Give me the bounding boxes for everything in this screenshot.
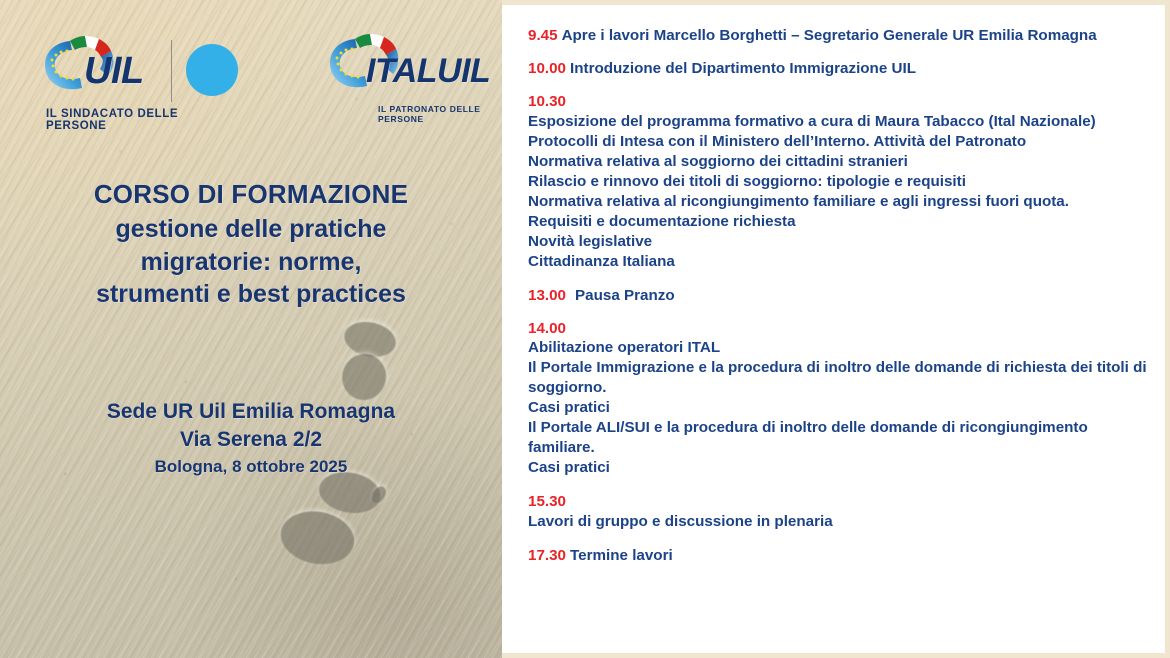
agenda-description-line: Il Portale Immigrazione e la procedura d…	[528, 358, 1155, 398]
agenda-description-line: Il Portale ALI/SUI e la procedura di ino…	[528, 418, 1155, 458]
agenda-time: 15.30	[528, 492, 1155, 512]
agenda-description-line: Requisiti e documentazione richiesta	[528, 212, 1155, 232]
agenda-time: 14.00	[528, 319, 1155, 339]
uil-wordmark: UIL	[84, 50, 144, 93]
agenda-description-line: Casi pratici	[528, 398, 1155, 418]
logo-divider	[171, 40, 172, 102]
title-line-4: strumenti e best practices	[0, 278, 502, 311]
uil-logo: UIL IL SINDACATO DELLE PERSONE	[40, 26, 240, 116]
agenda-description-line: Protocolli di Intesa con il Ministero de…	[528, 132, 1155, 152]
uil-blue-circle-icon	[186, 44, 238, 96]
italuil-tagline: IL PATRONATO DELLE PERSONE	[378, 104, 500, 124]
agenda-item-row: 10.00Introduzione del Dipartimento Immig…	[528, 59, 1155, 78]
agenda-description-line: Abilitazione operatori ITAL	[528, 338, 1155, 358]
agenda-item: 13.00Pausa Pranzo	[528, 286, 1155, 305]
agenda-description-line: Rilascio e rinnovo dei titoli di soggior…	[528, 172, 1155, 192]
agenda-description-lines: Esposizione del programma formativo a cu…	[528, 112, 1155, 272]
agenda-item: 14.00Abilitazione operatori ITALIl Porta…	[528, 319, 1155, 479]
agenda-description-line: Casi pratici	[528, 458, 1155, 478]
italuil-wordmark: ITALUIL	[366, 52, 490, 91]
agenda-description: Pausa Pranzo	[575, 287, 675, 304]
title-line-3: migratorie: norme,	[0, 246, 502, 279]
venue-block: Sede UR Uil Emilia Romagna Via Serena 2/…	[0, 398, 502, 479]
uil-tagline: IL SINDACATO DELLE PERSONE	[46, 108, 240, 132]
agenda-description-line: Novità legislative	[528, 232, 1155, 252]
agenda-description-lines: Abilitazione operatori ITALIl Portale Im…	[528, 338, 1155, 478]
agenda-item: 9.45Apre i lavori Marcello Borghetti – S…	[528, 26, 1155, 45]
agenda-item: 15.30Lavori di gruppo e discussione in p…	[528, 492, 1155, 532]
agenda-time: 10.30	[528, 92, 1155, 112]
agenda-description-line: Cittadinanza Italiana	[528, 252, 1155, 272]
agenda-description: Termine lavori	[570, 547, 673, 564]
venue-line-1: Sede UR Uil Emilia Romagna	[0, 398, 502, 426]
agenda-item-row: 13.00Pausa Pranzo	[528, 286, 1155, 305]
venue-line-2: Via Serena 2/2	[0, 426, 502, 454]
italuil-logo: ITALUIL IL PATRONATO DELLE PERSONE	[325, 26, 500, 116]
agenda-description-line: Lavori di gruppo e discussione in plenar…	[528, 512, 1155, 532]
venue-line-3: Bologna, 8 ottobre 2025	[0, 454, 502, 480]
agenda-time: 13.00	[528, 287, 566, 304]
agenda-item: 17.30Termine lavori	[528, 546, 1155, 565]
footprint-lower	[272, 462, 389, 597]
title-subtitle: gestione delle pratiche migratorie: norm…	[0, 211, 502, 311]
agenda-description-line: Normativa relativa al soggiorno dei citt…	[528, 152, 1155, 172]
agenda-time: 9.45	[528, 27, 558, 44]
title-line-2: gestione delle pratiche	[0, 213, 502, 246]
title-line-1: CORSO DI FORMAZIONE	[0, 178, 502, 211]
left-panel-sand-background: UIL IL SINDACATO DELLE PERSONE	[0, 0, 502, 658]
agenda-time: 17.30	[528, 547, 566, 564]
agenda-time: 10.00	[528, 60, 566, 77]
right-panel-programme: 9.45Apre i lavori Marcello Borghetti – S…	[502, 0, 1170, 658]
poster-title: CORSO DI FORMAZIONE gestione delle prati…	[0, 178, 502, 311]
agenda-item: 10.00Introduzione del Dipartimento Immig…	[528, 59, 1155, 78]
agenda-item: 10.30Esposizione del programma formativo…	[528, 92, 1155, 272]
agenda-description-line: Esposizione del programma formativo a cu…	[528, 112, 1155, 132]
agenda-description: Introduzione del Dipartimento Immigrazio…	[570, 60, 916, 77]
logo-row: UIL IL SINDACATO DELLE PERSONE	[0, 14, 502, 114]
agenda-item-row: 17.30Termine lavori	[528, 546, 1155, 565]
agenda-description-lines: Lavori di gruppo e discussione in plenar…	[528, 512, 1155, 532]
poster-canvas: UIL IL SINDACATO DELLE PERSONE	[0, 0, 1170, 658]
agenda-description-line: Normativa relativa al ricongiungimento f…	[528, 192, 1155, 212]
agenda-list: 9.45Apre i lavori Marcello Borghetti – S…	[528, 26, 1155, 565]
agenda-description: Apre i lavori Marcello Borghetti – Segre…	[562, 27, 1097, 44]
agenda-item-row: 9.45Apre i lavori Marcello Borghetti – S…	[528, 26, 1155, 45]
